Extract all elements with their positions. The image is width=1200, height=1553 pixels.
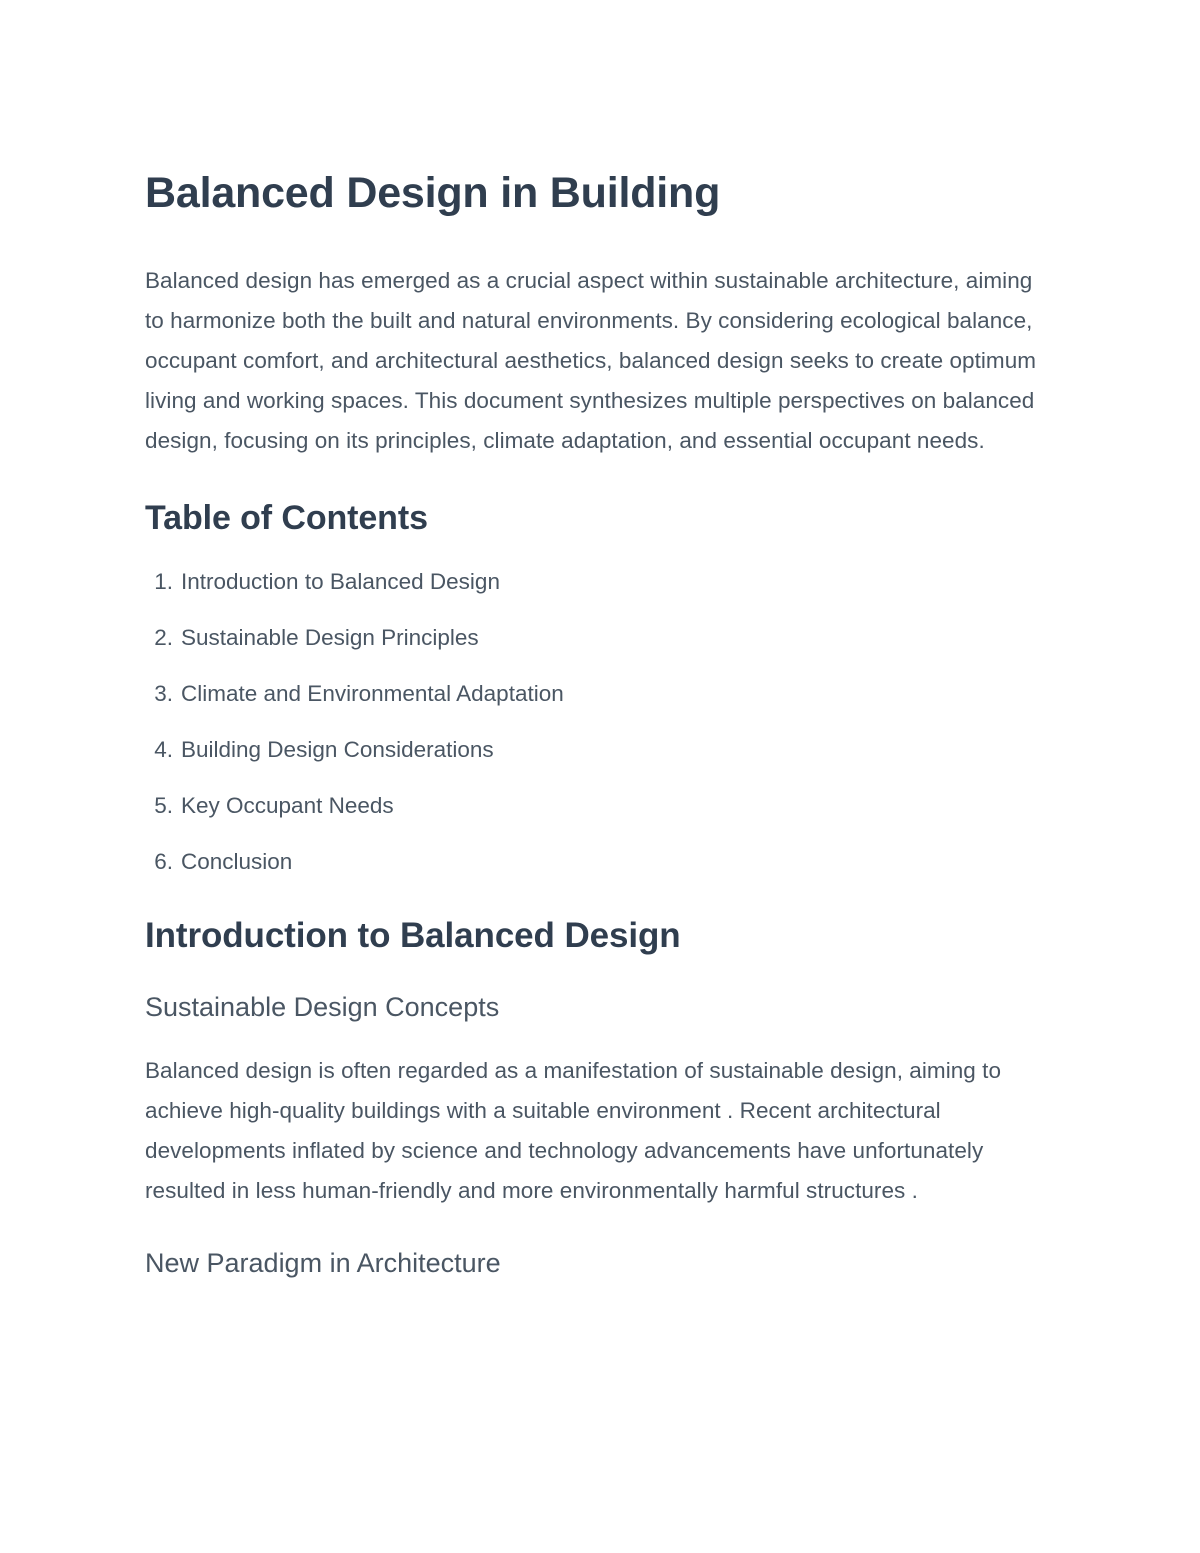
- section-heading-introduction: Introduction to Balanced Design: [145, 915, 1055, 957]
- list-item-label: Key Occupant Needs: [181, 792, 394, 819]
- list-item[interactable]: 5. Key Occupant Needs: [145, 792, 1055, 819]
- list-item-number: 5.: [145, 792, 181, 819]
- list-item[interactable]: 2. Sustainable Design Principles: [145, 624, 1055, 651]
- list-item-number: 2.: [145, 624, 181, 651]
- list-item-number: 3.: [145, 680, 181, 707]
- list-item-number: 6.: [145, 848, 181, 875]
- list-item-label: Building Design Considerations: [181, 736, 494, 763]
- list-item-label: Introduction to Balanced Design: [181, 568, 500, 595]
- list-item[interactable]: 6. Conclusion: [145, 848, 1055, 875]
- subsection-paragraph-sustainable-design-concepts: Balanced design is often regarded as a m…: [145, 1051, 1055, 1211]
- table-of-contents-list: 1. Introduction to Balanced Design 2. Su…: [145, 568, 1055, 875]
- page-title: Balanced Design in Building: [145, 170, 1055, 217]
- table-of-contents-heading: Table of Contents: [145, 498, 1055, 539]
- list-item[interactable]: 1. Introduction to Balanced Design: [145, 568, 1055, 595]
- list-item-label: Conclusion: [181, 848, 292, 875]
- document-page: Balanced Design in Building Balanced des…: [0, 0, 1200, 1553]
- list-item-number: 4.: [145, 736, 181, 763]
- list-item-label: Climate and Environmental Adaptation: [181, 680, 564, 707]
- list-item[interactable]: 4. Building Design Considerations: [145, 736, 1055, 763]
- list-item-number: 1.: [145, 568, 181, 595]
- list-item[interactable]: 3. Climate and Environmental Adaptation: [145, 680, 1055, 707]
- subsection-heading-new-paradigm-in-architecture: New Paradigm in Architecture: [145, 1247, 1055, 1281]
- intro-paragraph: Balanced design has emerged as a crucial…: [145, 261, 1055, 461]
- subsection-heading-sustainable-design-concepts: Sustainable Design Concepts: [145, 991, 1055, 1025]
- list-item-label: Sustainable Design Principles: [181, 624, 479, 651]
